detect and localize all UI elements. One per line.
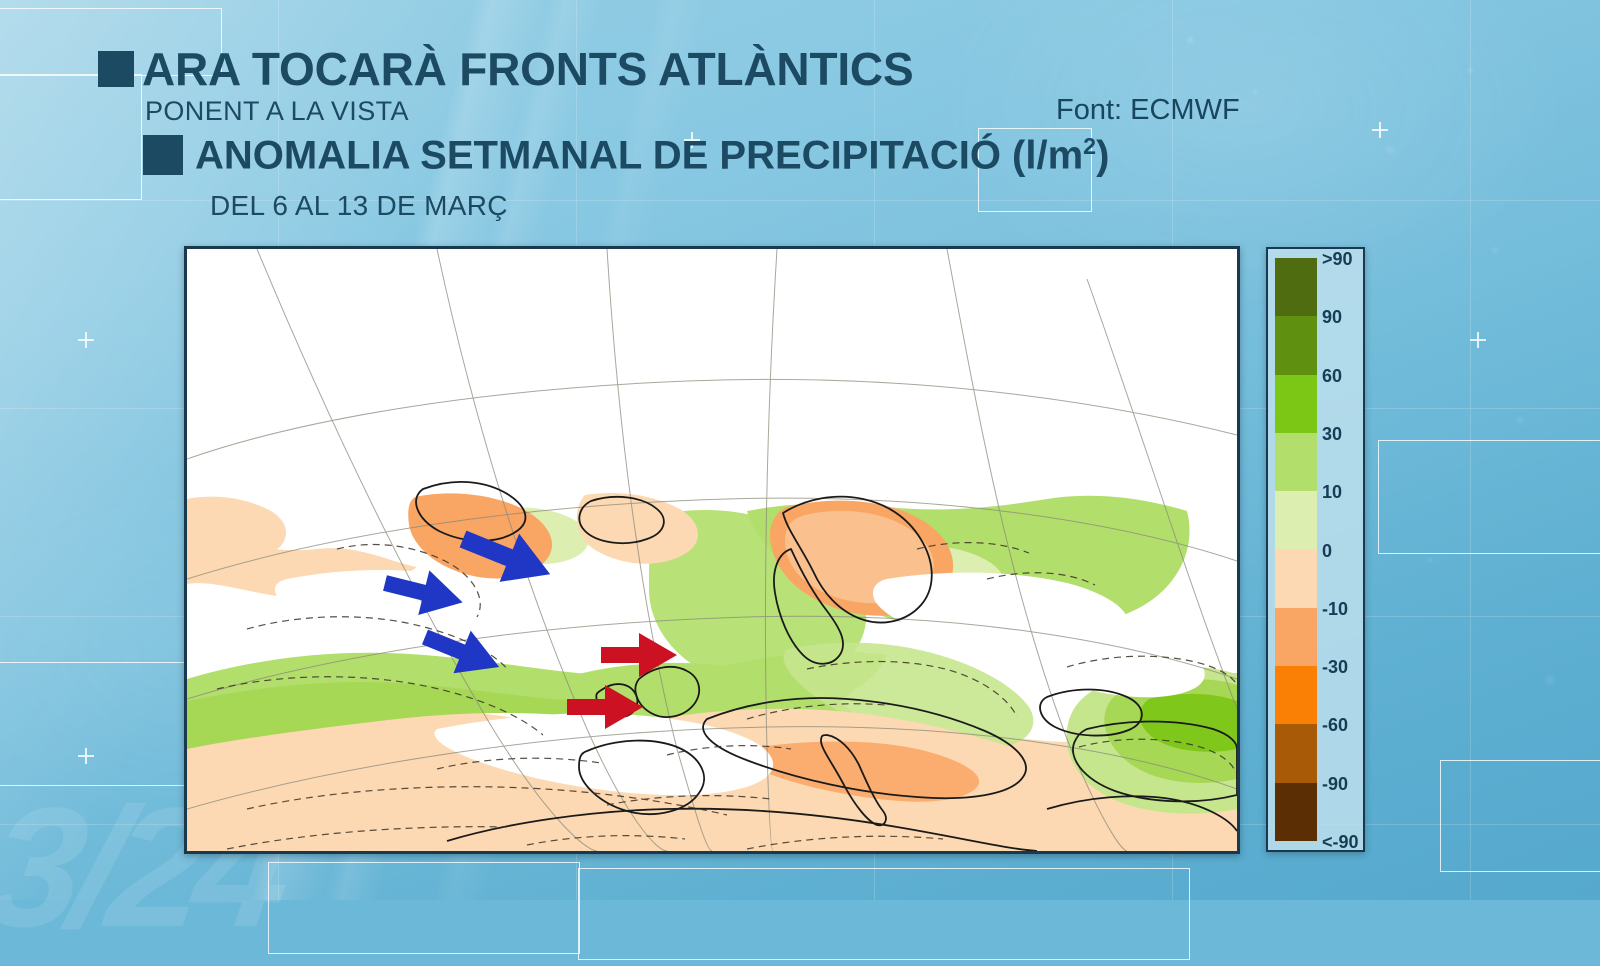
- colorbar-band-<-90: [1275, 783, 1317, 841]
- precipitation-anomaly-map: [184, 246, 1240, 854]
- colorbar-band-0 to 10: [1275, 491, 1317, 549]
- decor-rect-mid-right: [1378, 440, 1600, 554]
- colorbar-label: -90: [1322, 774, 1348, 795]
- colorbar-band-30 to 60: [1275, 375, 1317, 433]
- decor-rect-bottom: [268, 862, 580, 954]
- colorbar-band--10 to 0: [1275, 549, 1317, 607]
- source-attribution: Font: ECMWF: [1056, 94, 1240, 127]
- colorbar: [1275, 258, 1317, 841]
- colorbar-label: >90: [1322, 249, 1353, 270]
- decor-cross-left: [78, 332, 94, 348]
- map-canvas: [187, 249, 1237, 851]
- colorbar-label: 10: [1322, 482, 1342, 503]
- decor-cross-right: [1470, 332, 1486, 348]
- colorbar-label: 90: [1322, 307, 1342, 328]
- colorbar-label: -30: [1322, 657, 1348, 678]
- chart-title-main: ANOMALIA SETMANAL DE PRECIPITACIÓ (l/m: [195, 133, 1083, 177]
- colorbar-label: 0: [1322, 541, 1332, 562]
- decor-rect-bottom-2: [578, 868, 1190, 960]
- square-bullet-icon-2: [143, 135, 183, 175]
- secondary-title-row: ANOMALIA SETMANAL DE PRECIPITACIÓ (l/m2): [143, 135, 1109, 175]
- page-title: ARA TOCARÀ FRONTS ATLÀNTICS: [142, 46, 913, 92]
- colorbar-band--90 to -60: [1275, 724, 1317, 782]
- header: ARA TOCARÀ FRONTS ATLÀNTICS PONENT A LA …: [0, 0, 1600, 240]
- date-range: DEL 6 AL 13 DE MARÇ: [210, 190, 508, 222]
- colorbar-band->90: [1275, 258, 1317, 316]
- colorbar-band--30 to -10: [1275, 608, 1317, 666]
- decor-cross-bottom-left: [78, 748, 94, 764]
- colorbar-band--60 to -30: [1275, 666, 1317, 724]
- colorbar-label: -60: [1322, 715, 1348, 736]
- page-subtitle: PONENT A LA VISTA: [145, 96, 409, 127]
- chart-title-superscript: 2: [1083, 133, 1096, 159]
- colorbar-label: 30: [1322, 424, 1342, 445]
- title-row: ARA TOCARÀ FRONTS ATLÀNTICS: [98, 46, 913, 92]
- colorbar-label: -10: [1322, 599, 1348, 620]
- square-bullet-icon: [98, 51, 134, 87]
- colorbar-label: 60: [1322, 366, 1342, 387]
- decor-rect-right-edge: [1440, 760, 1600, 872]
- chart-title-close: ): [1096, 133, 1109, 177]
- colorbar-band-60 to 90: [1275, 316, 1317, 374]
- colorbar-label: <-90: [1322, 832, 1359, 853]
- chart-title: ANOMALIA SETMANAL DE PRECIPITACIÓ (l/m2): [195, 135, 1109, 175]
- colorbar-band-10 to 30: [1275, 433, 1317, 491]
